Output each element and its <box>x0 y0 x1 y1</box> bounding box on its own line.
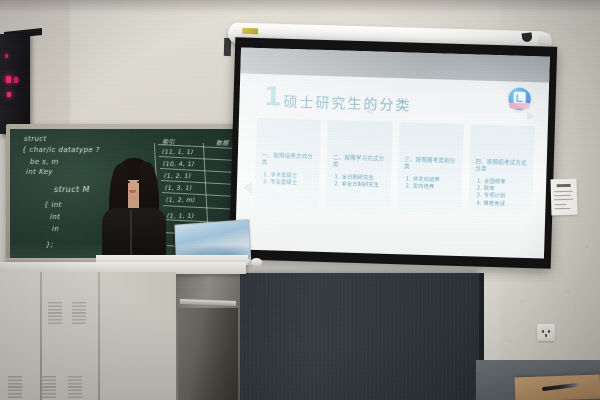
panel-texture <box>230 273 480 400</box>
column-heading: 三、按照报考类别分类 <box>404 157 459 173</box>
notice-text-line <box>554 208 570 209</box>
computer-mouse[interactable] <box>251 258 262 266</box>
ceiling-shadow <box>0 0 600 14</box>
wall-power-outlet[interactable] <box>537 324 555 341</box>
casing-end-knob <box>522 32 533 42</box>
chalk-rule <box>162 192 237 197</box>
cabinet-vent <box>72 302 86 324</box>
cabinet-vent <box>68 376 82 398</box>
slide-column: 四、按照招考试方式分类 1. 全国统考 2. 联考 3. 专项计划 4. 推荐免… <box>468 124 535 218</box>
chevron-right-icon[interactable] <box>527 112 534 120</box>
list-item: 2. 专业型硕士 <box>263 179 316 188</box>
chalk-rule <box>161 180 237 185</box>
wall-mark <box>585 246 589 248</box>
cabinet-vent <box>48 302 62 324</box>
slide-columns: 一、按照培养方向分类 1. 学术型硕士 2. 专业型硕士 二、按照学习方式分类 … <box>254 118 535 218</box>
chalk-rule <box>163 205 237 210</box>
outlet-face <box>540 327 552 338</box>
notice-text-line <box>554 199 573 200</box>
projection-screen: 1 硕士研究生的分类 一、按照培养方向分类 1. 学术型硕士 2. 专业型硕士 <box>229 37 557 268</box>
led-indicator <box>14 77 18 83</box>
dark-wall-panel <box>230 273 480 400</box>
led-indicator <box>5 54 8 58</box>
notice-text-line <box>554 195 571 196</box>
wall-mark <box>508 340 512 342</box>
chalk-table-header: 数据 <box>216 138 229 147</box>
slide-content: 1 硕士研究生的分类 一、按照培养方向分类 1. 学术型硕士 2. 专业型硕士 <box>235 73 549 258</box>
lectern-cabinet[interactable] <box>0 272 176 400</box>
notice-text-line <box>554 204 566 205</box>
column-list: 1. 非定向培养 2. 定向培养 <box>405 176 459 192</box>
outlet-slot <box>548 330 550 333</box>
notice-text-line <box>554 191 573 192</box>
column-heading: 四、按照招考试方式分类 <box>475 159 530 175</box>
presenter <box>96 146 170 270</box>
mouth <box>129 190 136 193</box>
outlet-slot <box>542 330 544 333</box>
wall-mark <box>520 300 523 302</box>
screen-surface: 1 硕士研究生的分类 一、按照培养方向分类 1. 学术型硕士 2. 专业型硕士 <box>235 47 550 258</box>
presentation-badge-logo <box>508 87 531 110</box>
cabinet-vent <box>8 376 22 398</box>
classroom-photo-scene: struct { char/ic datatype ? be s, m int … <box>0 0 600 400</box>
chalk-rule <box>160 168 237 173</box>
column-heading: 二、按照学习方式分类 <box>333 155 388 171</box>
slide-title: 硕士研究生的分类 <box>283 92 412 116</box>
column-list: 1. 全日制研究生 2. 非全日制研究生 <box>334 174 388 190</box>
slide-column: 一、按照培养方向分类 1. 学术型硕士 2. 专业型硕士 <box>254 118 321 212</box>
list-item: 4. 推荐免试 <box>476 200 529 209</box>
chalk-rule <box>159 156 237 161</box>
chevron-left-icon[interactable] <box>243 182 252 194</box>
chalk-table-row: (1, 2, m) <box>166 197 195 204</box>
cabinet-door-seam <box>98 272 100 400</box>
slide-number: 1 <box>263 84 282 111</box>
list-item: 2. 定向培养 <box>405 184 458 193</box>
wall-display-panel[interactable] <box>0 34 30 134</box>
chevron-left-icon[interactable] <box>365 107 372 115</box>
wall-posted-notice <box>551 179 578 216</box>
lectern-interior-shadow <box>178 308 238 400</box>
led-indicator <box>6 76 11 83</box>
outlet-slot <box>545 334 547 337</box>
cabinet-vent <box>42 376 56 398</box>
slide-column: 二、按照学习方式分类 1. 全日制研究生 2. 非全日制研究生 <box>325 120 392 214</box>
logo-ribbon <box>509 102 529 109</box>
column-heading: 一、按照培养方向分类 <box>262 153 317 169</box>
list-item: 2. 非全日制研究生 <box>334 181 387 190</box>
column-list: 1. 学术型硕士 2. 专业型硕士 <box>263 172 317 188</box>
column-list: 1. 全国统考 2. 联考 3. 专项计划 4. 推荐免试 <box>476 179 530 209</box>
casing-brand-sticker <box>242 28 258 34</box>
wall-mark <box>566 290 569 293</box>
led-indicator <box>7 92 11 97</box>
notice-header-bar <box>557 184 571 187</box>
slide-column: 三、按照报考类别分类 1. 非定向培养 2. 定向培养 <box>397 122 464 216</box>
